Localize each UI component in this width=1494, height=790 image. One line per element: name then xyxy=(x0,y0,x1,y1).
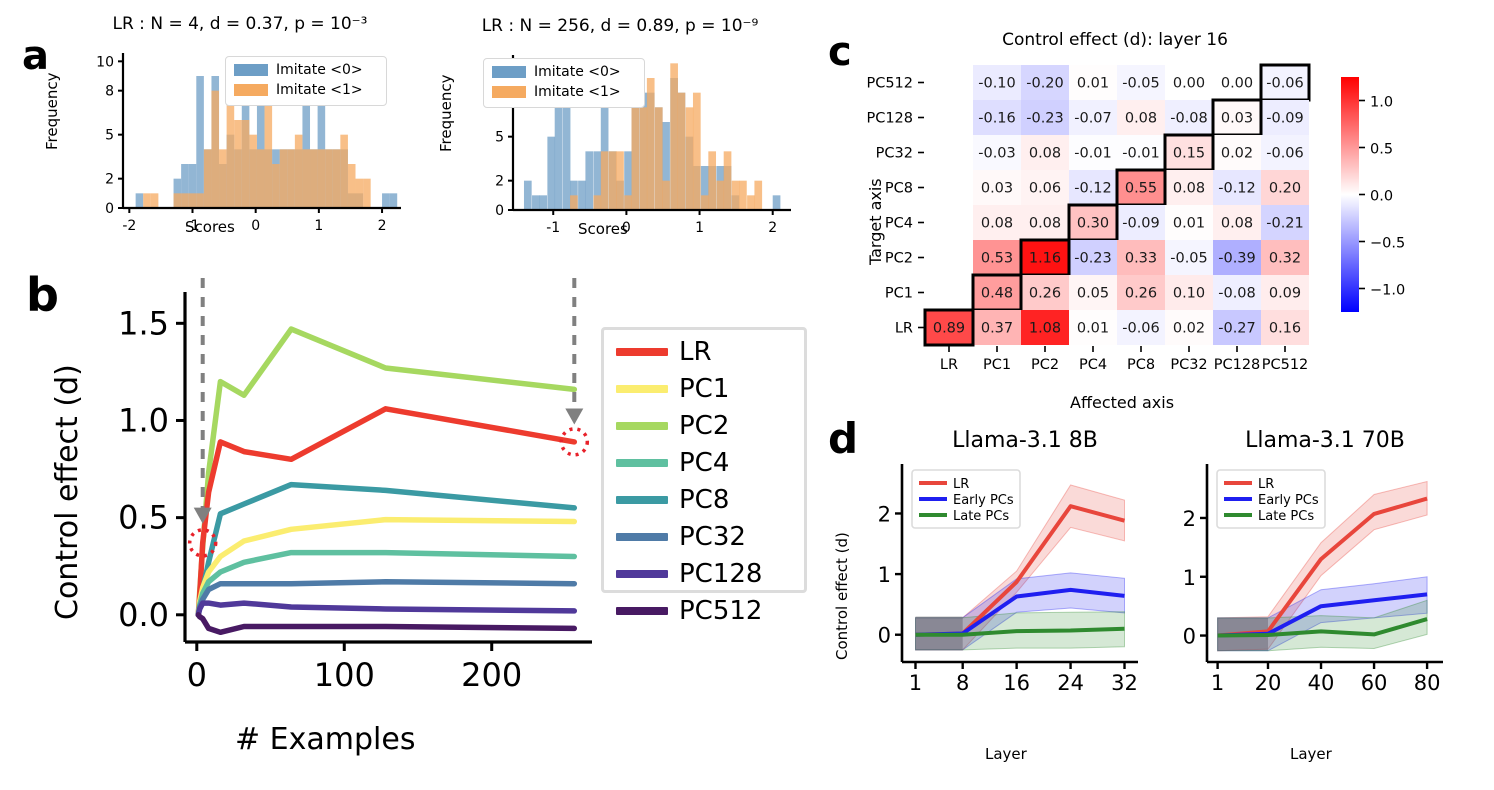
heatmap-cell-value: -0.08 xyxy=(1170,111,1208,127)
heatmap-cell-value: 0.02 xyxy=(1221,146,1253,162)
x-tick-label: 40 xyxy=(1308,671,1335,695)
y-tick-label: 10 xyxy=(96,54,114,70)
panel-d-left-title: Llama-3.1 8B xyxy=(880,428,1170,453)
heatmap-cell-value: 0.03 xyxy=(1221,111,1253,127)
legend-swatch-imitate1 xyxy=(234,84,268,96)
panel-a-right-ylabel: Frequency xyxy=(437,75,455,153)
hist-bar xyxy=(524,181,532,210)
heatmap-cell-value: 1.08 xyxy=(1029,321,1061,337)
legend-swatch-PC2 xyxy=(616,422,668,430)
y-tick-label: 1 xyxy=(878,563,891,587)
panel-a-right-title: LR : N = 256, d = 0.89, p = 10⁻⁹ xyxy=(460,16,780,36)
colorbar-tick-label: 0.5 xyxy=(1370,142,1393,158)
legend-label-imitate0: Imitate <0> xyxy=(534,64,621,80)
hist-bar xyxy=(662,181,670,210)
hist-bar xyxy=(272,164,280,208)
legend-swatch-PC128 xyxy=(616,570,668,578)
heatmap-cell-value: 0.08 xyxy=(1029,216,1061,232)
panel-b-legend-item-LR: LR xyxy=(616,337,804,367)
heatmap-cell-value: 0.08 xyxy=(1173,181,1205,197)
y-tick-label: 0 xyxy=(878,624,891,648)
colorbar-tick-label: −1.0 xyxy=(1370,283,1405,299)
legend-label-PC32: PC32 xyxy=(679,522,746,552)
hist-bar xyxy=(242,120,250,208)
panel-b-legend-item-PC8: PC8 xyxy=(616,485,804,515)
hist-bar xyxy=(257,149,265,208)
line-series-PC128 xyxy=(198,603,574,615)
legend-swatch-imitate1 xyxy=(492,86,526,98)
panel-a-right-xlabel: Scores xyxy=(578,220,628,238)
y-tick-label: 1 xyxy=(1183,566,1196,590)
x-tick-label: 2 xyxy=(378,218,387,234)
legend-label-LR: LR xyxy=(953,477,969,492)
panel-letter-c: c xyxy=(828,32,852,72)
hist-bar xyxy=(143,193,151,208)
x-tick-label: 100 xyxy=(314,656,375,694)
legend-label-imitate1: Imitate <1> xyxy=(534,84,621,100)
colorbar-tick-label: 0.0 xyxy=(1370,189,1393,205)
hist-bar xyxy=(325,149,333,208)
x-tick-label: 32 xyxy=(1111,671,1138,695)
heatmap-cell-value: -0.06 xyxy=(1122,321,1160,337)
heatmap-cell-value: 0.09 xyxy=(1269,286,1301,302)
hist-bar xyxy=(174,193,182,208)
panel-a-left-ylabel: Frequency xyxy=(43,73,61,151)
colorbar-tick-label: −0.5 xyxy=(1370,236,1405,252)
x-tick-label: 24 xyxy=(1057,671,1084,695)
hist-bar xyxy=(204,149,212,208)
heatmap-cell-value: 0.06 xyxy=(1029,181,1061,197)
hist-bar xyxy=(539,195,547,210)
legend-label-PC2: PC2 xyxy=(679,411,729,441)
heatmap-row-label: PC128 xyxy=(866,111,913,127)
heatmap-cell-value: 0.08 xyxy=(1221,216,1253,232)
heatmap-cell-empty xyxy=(925,65,973,100)
hist-bar xyxy=(716,181,724,210)
heatmap-cell-value: 0.10 xyxy=(1173,286,1205,302)
x-tick-label: 1 xyxy=(314,218,323,234)
line-series-PC1 xyxy=(198,520,574,615)
panel-b-line-chart: 0.00.51.01.50100200 xyxy=(40,280,600,710)
panel-d-right-xlabel: Layer xyxy=(1290,745,1332,763)
panel-b-ylabel: Control effect (d) xyxy=(50,364,85,620)
heatmap-cell-value: 0.55 xyxy=(1125,181,1157,197)
hist-bar xyxy=(310,149,318,208)
heatmap-cell-value: 0.01 xyxy=(1173,216,1205,232)
x-tick-label: 0 xyxy=(251,218,260,234)
heatmap-cell-value: -0.10 xyxy=(978,76,1016,92)
hist-bar xyxy=(295,135,303,208)
hist-bar xyxy=(265,91,273,208)
y-tick-label: 5 xyxy=(105,128,114,144)
y-tick-label: 0.0 xyxy=(118,596,169,634)
heatmap-cell-value: 0.03 xyxy=(981,181,1013,197)
colorbar xyxy=(1341,77,1359,312)
hist-bar xyxy=(563,93,571,210)
hist-bar xyxy=(287,149,295,208)
hist-bar xyxy=(219,149,227,208)
legend-swatch-imitate0 xyxy=(234,64,268,76)
x-tick-label: 8 xyxy=(956,671,969,695)
hist-bar xyxy=(601,151,609,210)
colorbar-tick-label: 1.0 xyxy=(1370,95,1393,111)
heatmap-cell-value: -0.39 xyxy=(1218,251,1256,267)
heatmap-cell-value: -0.20 xyxy=(1026,76,1064,92)
heatmap-cell-value: 0.37 xyxy=(981,321,1013,337)
legend-label-imitate0: Imitate <0> xyxy=(276,62,363,78)
y-tick-label: 0 xyxy=(1183,625,1196,649)
panel-c-ylabel: Target axis xyxy=(866,178,885,265)
heatmap-cell-value: -0.05 xyxy=(1122,76,1160,92)
x-tick-label: 2 xyxy=(768,220,777,236)
heatmap-row-label: PC8 xyxy=(885,181,913,197)
heatmap-cell-value: 0.20 xyxy=(1269,181,1301,197)
legend-label-imitate1: Imitate <1> xyxy=(276,82,363,98)
hist-bar xyxy=(151,193,159,208)
hist-bar xyxy=(532,195,540,210)
heatmap-cell-value: -0.12 xyxy=(1074,181,1112,197)
legend-label-LR: LR xyxy=(1258,477,1274,492)
hist-bar xyxy=(701,195,709,210)
heatmap-cell-value: 0.53 xyxy=(981,251,1013,267)
hist-bar xyxy=(234,120,242,208)
heatmap-cell-empty xyxy=(925,100,973,135)
legend-swatch-PC4 xyxy=(616,459,668,467)
panel-d-left-chart: 01218162432LREarly PCsLate PCs xyxy=(860,462,1150,712)
panel-a-left-xlabel: Scores xyxy=(185,218,235,236)
heatmap-cell-value: -0.06 xyxy=(1266,76,1304,92)
legend-label-Early PCs: Early PCs xyxy=(1258,493,1319,508)
heatmap-cell-value: 0.08 xyxy=(981,216,1013,232)
legend-swatch-LR xyxy=(616,348,668,356)
heatmap-cell-value: 0.05 xyxy=(1077,286,1109,302)
heatmap-cell-empty xyxy=(925,170,973,205)
panel-b-legend-item-PC1: PC1 xyxy=(616,374,804,404)
hist-bar xyxy=(318,149,326,208)
line-series-PC2 xyxy=(198,329,574,615)
legend-label-PC128: PC128 xyxy=(679,559,762,589)
hist-bar xyxy=(340,135,348,208)
legend-label-PC1: PC1 xyxy=(679,374,729,404)
hist-bar xyxy=(547,137,555,210)
legend-swatch-PC8 xyxy=(616,496,668,504)
heatmap-cell-value: 0.48 xyxy=(981,286,1013,302)
heatmap-cell-empty xyxy=(925,205,973,240)
heatmap-row-label: LR xyxy=(895,321,913,337)
hist-bar xyxy=(363,179,371,208)
hist-bar xyxy=(382,193,390,208)
x-tick-label: 80 xyxy=(1414,671,1441,695)
hist-bar xyxy=(632,107,640,210)
hist-bar xyxy=(739,181,747,210)
annotation-arrowhead xyxy=(565,408,583,424)
y-tick-label: 2 xyxy=(105,172,114,188)
panel-a-left-legend: Imitate <0> Imitate <1> xyxy=(225,56,387,106)
hist-bar xyxy=(609,151,617,210)
panel-letter-a: a xyxy=(22,36,49,76)
panel-b-legend-item-PC2: PC2 xyxy=(616,411,804,441)
heatmap-cell-value: -0.08 xyxy=(1218,286,1256,302)
hist-bar xyxy=(555,93,563,210)
y-tick-label: 2 xyxy=(1183,507,1196,531)
heatmap-col-label: PC128 xyxy=(1214,357,1261,373)
hist-bar xyxy=(196,76,204,208)
x-tick-label: 60 xyxy=(1361,671,1388,695)
hist-bar xyxy=(655,107,663,210)
y-tick-label: 1.5 xyxy=(118,304,169,342)
heatmap-cell-value: 0.00 xyxy=(1221,76,1253,92)
x-tick-label: 1 xyxy=(909,671,922,695)
y-tick-label: 5 xyxy=(495,130,504,146)
heatmap-cell-value: 0.08 xyxy=(1029,146,1061,162)
y-tick-label: 8 xyxy=(105,84,114,100)
hist-bar xyxy=(686,107,694,210)
heatmap-col-label: PC2 xyxy=(1031,357,1059,373)
heatmap-col-label: PC512 xyxy=(1262,357,1309,373)
heatmap-cell-value: 0.33 xyxy=(1125,251,1157,267)
hist-bar xyxy=(678,93,686,210)
panel-c-heatmap: -0.10-0.200.01-0.050.000.00-0.06PC512-0.… xyxy=(855,55,1475,385)
panel-d-left-xlabel: Layer xyxy=(985,745,1027,763)
hist-bar xyxy=(136,193,144,208)
hist-bar xyxy=(181,193,189,208)
hist-bar xyxy=(647,78,655,210)
heatmap-cell-value: -0.01 xyxy=(1074,146,1112,162)
heatmap-cell-value: 0.16 xyxy=(1269,321,1301,337)
heatmap-col-label: PC1 xyxy=(983,357,1011,373)
figure-root: a LR : N = 4, d = 0.37, p = 10⁻³ 025810-… xyxy=(0,0,1494,790)
panel-b-legend-item-PC128: PC128 xyxy=(616,559,804,589)
panel-b-legend: LRPC1PC2PC4PC8PC32PC128PC512 xyxy=(601,327,807,593)
legend-label-PC8: PC8 xyxy=(679,485,729,515)
x-tick-label: -2 xyxy=(122,218,136,234)
hist-bar xyxy=(640,107,648,210)
heatmap-cell-value: 0.30 xyxy=(1077,216,1109,232)
legend-swatch-PC32 xyxy=(616,533,668,541)
y-tick-label: 0.5 xyxy=(118,499,169,537)
heatmap-cell-value: -0.23 xyxy=(1026,111,1064,127)
hist-bar xyxy=(302,149,310,208)
x-tick-label: 200 xyxy=(461,656,522,694)
legend-label-PC512: PC512 xyxy=(679,596,762,626)
heatmap-col-label: PC32 xyxy=(1170,357,1207,373)
panel-c-xlabel: Affected axis xyxy=(1070,393,1174,412)
y-tick-label: 0 xyxy=(105,201,114,217)
x-tick-label: 0 xyxy=(187,656,207,694)
hist-bar xyxy=(616,151,624,210)
panel-a-left-title: LR : N = 4, d = 0.37, p = 10⁻³ xyxy=(80,14,400,34)
panel-b-legend-item-PC512: PC512 xyxy=(616,596,804,626)
x-tick-label: 16 xyxy=(1003,671,1030,695)
heatmap-cell-value: 0.32 xyxy=(1269,251,1301,267)
heatmap-cell-value: -0.21 xyxy=(1266,216,1304,232)
hist-bar xyxy=(189,193,197,208)
hist-bar xyxy=(196,193,204,208)
panel-b-legend-item-PC4: PC4 xyxy=(616,448,804,478)
hist-bar xyxy=(578,181,586,210)
heatmap-cell-value: 0.26 xyxy=(1125,286,1157,302)
heatmap-col-label: PC8 xyxy=(1127,357,1155,373)
x-tick-label: -1 xyxy=(546,220,560,236)
hist-bar xyxy=(708,151,716,210)
heatmap-cell-value: -0.27 xyxy=(1218,321,1256,337)
hist-bar xyxy=(356,179,364,208)
panel-d-ylabel: Control effect (d) xyxy=(833,532,851,660)
heatmap-cell-value: -0.16 xyxy=(978,111,1016,127)
hist-bar xyxy=(249,135,257,208)
hist-bar xyxy=(754,181,762,210)
heatmap-cell-value: -0.07 xyxy=(1074,111,1112,127)
heatmap-col-label: PC4 xyxy=(1079,357,1107,373)
heatmap-cell-value: -0.09 xyxy=(1122,216,1160,232)
heatmap-cell-value: -0.03 xyxy=(978,146,1016,162)
hist-bar xyxy=(585,151,593,210)
legend-swatch-PC1 xyxy=(616,385,668,393)
legend-label-LR: LR xyxy=(679,337,712,367)
heatmap-cell-value: -0.09 xyxy=(1266,111,1304,127)
heatmap-row-label: PC4 xyxy=(885,216,913,232)
heatmap-cell-empty xyxy=(925,135,973,170)
heatmap-cell-value: -0.06 xyxy=(1266,146,1304,162)
heatmap-row-label: PC32 xyxy=(876,146,913,162)
x-tick-label: 1 xyxy=(695,220,704,236)
hist-bar xyxy=(732,181,740,210)
y-tick-label: 2 xyxy=(878,502,891,526)
legend-label-Early PCs: Early PCs xyxy=(953,493,1014,508)
hist-bar xyxy=(670,63,678,210)
annotation-arrowhead xyxy=(194,508,212,524)
heatmap-cell-value: 0.15 xyxy=(1173,146,1205,162)
hist-bar xyxy=(348,164,356,208)
heatmap-cell-value: -0.05 xyxy=(1170,251,1208,267)
x-tick-label: 20 xyxy=(1255,671,1282,695)
y-tick-label: 1.0 xyxy=(118,401,169,439)
heatmap-cell-value: 0.00 xyxy=(1173,76,1205,92)
panel-d-right-title: Llama-3.1 70B xyxy=(1180,428,1470,453)
y-tick-label: 2 xyxy=(495,174,504,190)
heatmap-row-label: PC2 xyxy=(885,251,913,267)
legend-label-Late PCs: Late PCs xyxy=(1258,509,1314,524)
heatmap-row-label: PC1 xyxy=(885,286,913,302)
heatmap-cell-value: 0.89 xyxy=(933,321,965,337)
heatmap-cell-value: 0.01 xyxy=(1077,76,1109,92)
heatmap-cell-value: -0.12 xyxy=(1218,181,1256,197)
panel-c-title: Control effect (d): layer 16 xyxy=(880,30,1350,50)
legend-label-PC4: PC4 xyxy=(679,448,729,478)
legend-swatch-imitate0 xyxy=(492,66,526,78)
heatmap-col-label: LR xyxy=(940,357,958,373)
hist-bar xyxy=(333,149,341,208)
heatmap-cell-value: 0.02 xyxy=(1173,321,1205,337)
hist-bar xyxy=(773,195,781,210)
hist-bar xyxy=(570,195,578,210)
heatmap-row-label: PC512 xyxy=(866,76,913,92)
panel-letter-d: d xyxy=(828,418,858,460)
hist-bar xyxy=(280,149,288,208)
legend-label-Late PCs: Late PCs xyxy=(953,509,1009,524)
hist-bar xyxy=(227,91,235,208)
heatmap-cell-value: 0.01 xyxy=(1077,321,1109,337)
panel-d-right-chart: 012120406080LREarly PCsLate PCs xyxy=(1165,462,1455,712)
x-tick-label: 1 xyxy=(1211,671,1224,695)
heatmap-cell-value: 1.16 xyxy=(1029,251,1061,267)
y-tick-label: 0 xyxy=(495,203,504,219)
heatmap-cell-value: -0.23 xyxy=(1074,251,1112,267)
heatmap-cell-empty xyxy=(925,240,973,275)
hist-bar xyxy=(693,93,701,210)
hist-bar xyxy=(624,195,632,210)
panel-a-right-legend: Imitate <0> Imitate <1> xyxy=(483,58,645,108)
panel-b-legend-item-PC32: PC32 xyxy=(616,522,804,552)
heatmap-cell-value: 0.08 xyxy=(1125,111,1157,127)
line-series-PC512 xyxy=(198,615,574,633)
panel-b-xlabel: # Examples xyxy=(235,722,415,757)
legend-swatch-PC512 xyxy=(616,607,668,615)
heatmap-cell-value: 0.26 xyxy=(1029,286,1061,302)
hist-bar xyxy=(211,91,219,208)
hist-bar xyxy=(724,151,732,210)
hist-bar xyxy=(593,195,601,210)
hist-bar xyxy=(747,195,755,210)
line-series-PC8 xyxy=(198,485,574,615)
heatmap-cell-empty xyxy=(925,275,973,310)
heatmap-cell-value: -0.01 xyxy=(1122,146,1160,162)
hist-bar xyxy=(390,193,398,208)
